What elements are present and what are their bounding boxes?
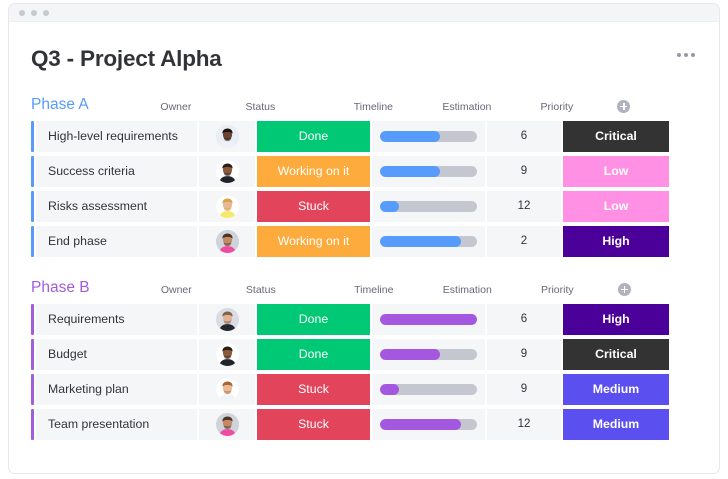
status-cell[interactable]: Done <box>257 121 370 152</box>
timeline-progress-fill <box>380 314 477 325</box>
row-color-indicator <box>31 374 34 405</box>
status-cell[interactable]: Stuck <box>257 374 370 405</box>
status-cell[interactable]: Done <box>257 304 370 335</box>
priority-cell[interactable]: Critical <box>563 121 669 152</box>
owner-cell[interactable] <box>199 374 255 405</box>
kebab-dot <box>684 53 688 57</box>
board-group: Phase BOwnerStatusTimelineEstimationPrio… <box>31 275 697 440</box>
row-end-spacer <box>669 226 697 257</box>
owner-cell[interactable] <box>199 121 255 152</box>
row-color-indicator <box>31 339 34 370</box>
timeline-cell[interactable] <box>372 339 485 370</box>
board-header: Q3 - Project Alpha <box>31 22 697 72</box>
status-cell[interactable]: Stuck <box>257 191 370 222</box>
estimation-cell[interactable]: 6 <box>487 121 561 152</box>
window-dot-maximize[interactable] <box>43 10 49 16</box>
timeline-progress-fill <box>380 419 461 430</box>
row-title-cell[interactable]: Risks assessment <box>36 191 197 222</box>
table-row[interactable]: Marketing planStuck9Medium <box>31 374 697 405</box>
row-color-indicator <box>31 156 34 187</box>
column-header-estimation[interactable]: Estimation <box>430 102 504 113</box>
estimation-cell[interactable]: 2 <box>487 226 561 257</box>
timeline-cell[interactable] <box>372 304 485 335</box>
row-end-spacer <box>669 409 697 440</box>
group-title[interactable]: Phase A <box>31 97 148 113</box>
row-title-cell[interactable]: Marketing plan <box>36 374 197 405</box>
owner-cell[interactable] <box>199 304 255 335</box>
window-titlebar <box>9 4 719 22</box>
row-end-spacer <box>669 339 697 370</box>
avatar-woman-dark-hair <box>216 125 239 148</box>
column-header-timeline[interactable]: Timeline <box>317 102 430 113</box>
owner-cell[interactable] <box>199 409 255 440</box>
estimation-cell[interactable]: 6 <box>487 304 561 335</box>
table-row[interactable]: Team presentationStuck12Medium <box>31 409 697 440</box>
row-title-cell[interactable]: Success criteria <box>36 156 197 187</box>
column-header-owner[interactable]: Owner <box>148 285 204 296</box>
avatar-man-beard-black-shirt <box>216 160 239 183</box>
timeline-progress-track <box>380 201 477 212</box>
row-color-indicator <box>31 304 34 335</box>
column-header-priority[interactable]: Priority <box>504 102 610 113</box>
timeline-progress-track <box>380 349 477 360</box>
status-cell[interactable]: Done <box>257 339 370 370</box>
row-end-spacer <box>669 304 697 335</box>
avatar-man-blond-beard <box>216 308 239 331</box>
owner-cell[interactable] <box>199 156 255 187</box>
timeline-progress-fill <box>380 236 461 247</box>
priority-cell[interactable]: High <box>563 226 669 257</box>
window-dot-minimize[interactable] <box>31 10 37 16</box>
timeline-cell[interactable] <box>372 121 485 152</box>
group-header: Phase AOwnerStatusTimelineEstimationPrio… <box>31 92 697 113</box>
timeline-cell[interactable] <box>372 156 485 187</box>
column-header-owner[interactable]: Owner <box>148 102 204 113</box>
owner-cell[interactable] <box>199 339 255 370</box>
kebab-dot <box>677 53 681 57</box>
row-color-indicator <box>31 226 34 257</box>
add-column-icon[interactable] <box>617 100 630 113</box>
avatar-man-pink-shirt <box>216 230 239 253</box>
priority-cell[interactable]: Medium <box>563 374 669 405</box>
table-row[interactable]: Risks assessmentStuck12Low <box>31 191 697 222</box>
board-content: Q3 - Project Alpha Phase AOwnerStatusTim… <box>9 22 719 440</box>
page-title: Q3 - Project Alpha <box>31 47 222 72</box>
column-header-status[interactable]: Status <box>204 102 317 113</box>
window-dot-close[interactable] <box>19 10 25 16</box>
timeline-progress-track <box>380 236 477 247</box>
table-row[interactable]: High-level requirementsDone6Critical <box>31 121 697 152</box>
priority-cell[interactable]: Low <box>563 191 669 222</box>
timeline-progress-fill <box>380 349 440 360</box>
avatar-woman-curly-hair <box>216 378 239 401</box>
kebab-dot <box>691 53 695 57</box>
group-title[interactable]: Phase B <box>31 280 148 296</box>
timeline-progress-fill <box>380 201 399 212</box>
group-rows: RequirementsDone6HighBudgetDone9Critical… <box>31 304 697 440</box>
priority-cell[interactable]: Medium <box>563 409 669 440</box>
row-title-cell[interactable]: End phase <box>36 226 197 257</box>
column-header-row: OwnerStatusTimelineEstimationPriority <box>148 283 697 296</box>
kebab-menu-icon[interactable] <box>677 47 697 57</box>
timeline-cell[interactable] <box>372 191 485 222</box>
group-header: Phase BOwnerStatusTimelineEstimationPrio… <box>31 275 697 296</box>
row-end-spacer <box>669 191 697 222</box>
timeline-cell[interactable] <box>372 226 485 257</box>
timeline-progress-fill <box>380 384 399 395</box>
row-title-cell[interactable]: Requirements <box>36 304 197 335</box>
table-row[interactable]: RequirementsDone6High <box>31 304 697 335</box>
owner-cell[interactable] <box>199 191 255 222</box>
estimation-cell[interactable]: 9 <box>487 156 561 187</box>
add-column-icon[interactable] <box>618 283 631 296</box>
timeline-cell[interactable] <box>372 374 485 405</box>
row-end-spacer <box>669 121 697 152</box>
avatar-woman-blonde <box>216 195 239 218</box>
estimation-cell[interactable]: 9 <box>487 339 561 370</box>
timeline-progress-track <box>380 166 477 177</box>
estimation-cell[interactable]: 12 <box>487 191 561 222</box>
status-cell[interactable]: Working on it <box>257 156 370 187</box>
row-title-cell[interactable]: High-level requirements <box>36 121 197 152</box>
app-root: Q3 - Project Alpha Phase AOwnerStatusTim… <box>0 0 728 479</box>
row-color-indicator <box>31 191 34 222</box>
column-header-estimation[interactable]: Estimation <box>430 285 504 296</box>
timeline-progress-track <box>380 314 477 325</box>
timeline-progress-fill <box>380 166 440 177</box>
row-color-indicator <box>31 409 34 440</box>
add-column-cell <box>610 100 638 113</box>
column-header-timeline[interactable]: Timeline <box>317 285 430 296</box>
column-header-status[interactable]: Status <box>204 285 317 296</box>
estimation-cell[interactable]: 9 <box>487 374 561 405</box>
priority-cell[interactable]: Low <box>563 156 669 187</box>
row-end-spacer <box>669 156 697 187</box>
board-groups: Phase AOwnerStatusTimelineEstimationPrio… <box>31 92 697 440</box>
table-row[interactable]: BudgetDone9Critical <box>31 339 697 370</box>
avatar-man-pink-shirt <box>216 413 239 436</box>
avatar-man-beard-black-shirt <box>216 343 239 366</box>
table-row[interactable]: End phaseWorking on it2High <box>31 226 697 257</box>
row-title-cell[interactable]: Team presentation <box>36 409 197 440</box>
group-rows: High-level requirementsDone6CriticalSucc… <box>31 121 697 257</box>
timeline-cell[interactable] <box>372 409 485 440</box>
timeline-progress-track <box>380 131 477 142</box>
status-cell[interactable]: Stuck <box>257 409 370 440</box>
row-title-cell[interactable]: Budget <box>36 339 197 370</box>
column-header-priority[interactable]: Priority <box>504 285 610 296</box>
table-row[interactable]: Success criteriaWorking on it9Low <box>31 156 697 187</box>
priority-cell[interactable]: Critical <box>563 339 669 370</box>
estimation-cell[interactable]: 12 <box>487 409 561 440</box>
status-cell[interactable]: Working on it <box>257 226 370 257</box>
add-column-cell <box>610 283 638 296</box>
timeline-progress-fill <box>380 131 440 142</box>
row-color-indicator <box>31 121 34 152</box>
board-group: Phase AOwnerStatusTimelineEstimationPrio… <box>31 92 697 257</box>
timeline-progress-track <box>380 419 477 430</box>
browser-window: Q3 - Project Alpha Phase AOwnerStatusTim… <box>8 3 720 474</box>
timeline-progress-track <box>380 384 477 395</box>
owner-cell[interactable] <box>199 226 255 257</box>
column-header-row: OwnerStatusTimelineEstimationPriority <box>148 100 697 113</box>
priority-cell[interactable]: High <box>563 304 669 335</box>
row-end-spacer <box>669 374 697 405</box>
